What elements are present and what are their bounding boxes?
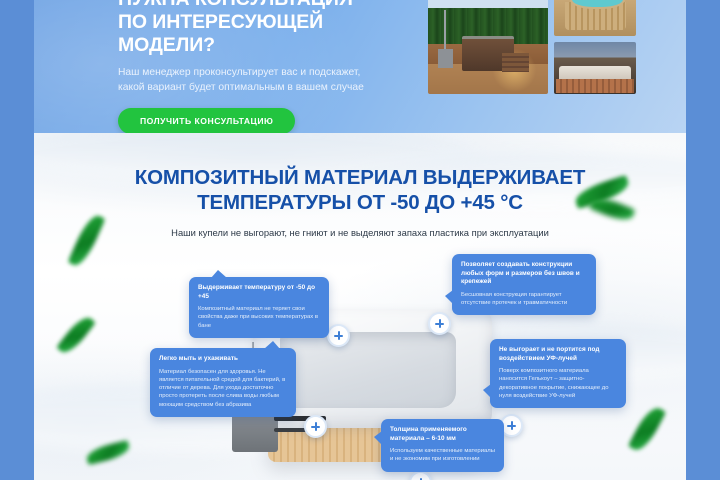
plus-icon	[435, 319, 444, 328]
feature-card-title: Позволяет создавать конструкции любых фо…	[461, 261, 587, 287]
hotspot-plus-button-1[interactable]	[327, 324, 350, 347]
feature-card-title: Выдерживает температуру от -50 до +45	[198, 284, 320, 301]
feature-card-text: Бесшовная конструкция гарантирует отсутс…	[461, 291, 587, 308]
get-consultation-button[interactable]: ПОЛУЧИТЬ КОНСУЛЬТАЦИЮ	[118, 108, 295, 133]
banner-title-line-1: НУЖНА КОНСУЛЬТАЦИЯ	[118, 0, 418, 11]
feature-card-text: Композитный материал не теряет свои свой…	[198, 305, 320, 330]
card-tail	[483, 384, 491, 398]
feature-card-text: Материал безопасен для здоровья. Не явля…	[159, 368, 287, 409]
plus-icon	[334, 331, 343, 340]
feature-card-title: Не выгорает и не портится под воздействи…	[499, 346, 617, 363]
photo-mountain-spa-tub	[554, 42, 636, 94]
section-title: КОМПОЗИТНЫЙ МАТЕРИАЛ ВЫДЕРЖИВАЕТ ТЕМПЕРА…	[34, 165, 686, 215]
section-title-line-1: КОМПОЗИТНЫЙ МАТЕРИАЛ ВЫДЕРЖИВАЕТ	[34, 165, 686, 190]
banner-photo-gallery	[428, 0, 678, 108]
feature-card-seamless-shapes[interactable]: Позволяет создавать конструкции любых фо…	[452, 254, 596, 315]
spa-wood-skirt-decor	[556, 79, 635, 93]
feature-card-text: Используем качественные материалы и не э…	[390, 447, 495, 464]
hotspot-plus-button-2[interactable]	[428, 312, 451, 335]
card-tail	[211, 270, 227, 278]
section-lede: Наши купели не выгорают, не гниют и не в…	[34, 226, 686, 239]
feature-card-easy-clean[interactable]: Легко мыть и ухаживать Материал безопасе…	[150, 348, 296, 417]
tub-basin	[280, 332, 456, 408]
section-heading-block: КОМПОЗИТНЫЙ МАТЕРИАЛ ВЫДЕРЖИВАЕТ ТЕМПЕРА…	[34, 165, 686, 239]
banner-title-line-2: ПО ИНТЕРЕСУЮЩЕЙ МОДЕЛИ?	[118, 11, 418, 57]
card-tail	[374, 431, 382, 445]
banner-subtitle-line-2: какой вариант будет оптимальным в вашем …	[118, 81, 418, 96]
feature-card-title: Толщина применяемого материала – 6-10 мм	[390, 426, 495, 443]
wood-stove-decor	[438, 49, 454, 68]
leaf-icon	[628, 404, 666, 455]
plus-icon	[507, 421, 516, 430]
feature-card-title: Легко мыть и ухаживать	[159, 355, 287, 364]
banner-subtitle-line-1: Наш менеджер проконсультирует вас и подс…	[118, 66, 418, 81]
feature-card-text: Поверх композитного материала наносится …	[499, 367, 617, 400]
feature-card-uv-resistance[interactable]: Не выгорает и не портится под воздействи…	[490, 339, 626, 408]
chimney-pipe-decor	[444, 10, 446, 53]
consultation-banner: НУЖНА КОНСУЛЬТАЦИЯ ПО ИНТЕРЕСУЮЩЕЙ МОДЕЛ…	[34, 0, 686, 133]
leaf-icon	[56, 313, 96, 358]
banner-copy: НУЖНА КОНСУЛЬТАЦИЯ ПО ИНТЕРЕСУЮЩЕЙ МОДЕЛ…	[118, 0, 418, 133]
plus-icon	[311, 422, 320, 431]
photo-outdoor-hot-tub	[428, 0, 548, 94]
card-tail	[264, 341, 280, 349]
section-title-line-2: ТЕМПЕРАТУРЫ ОТ -50 ДО +45 °C	[34, 190, 686, 215]
banner-subtitle: Наш менеджер проконсультирует вас и подс…	[118, 66, 418, 95]
tub-steps-decor	[502, 53, 528, 72]
card-tail	[445, 290, 453, 304]
feature-card-temperature[interactable]: Выдерживает температуру от -50 до +45 Ко…	[189, 277, 329, 338]
landing-page: НУЖНА КОНСУЛЬТАЦИЯ ПО ИНТЕРЕСУЮЩЕЙ МОДЕЛ…	[34, 0, 686, 480]
photo-round-wooden-tub	[554, 0, 636, 36]
hotspot-plus-button-4[interactable]	[304, 415, 327, 438]
banner-title: НУЖНА КОНСУЛЬТАЦИЯ ПО ИНТЕРЕСУЮЩЕЙ МОДЕЛ…	[118, 0, 418, 57]
feature-card-thickness[interactable]: Толщина применяемого материала – 6-10 мм…	[381, 419, 504, 472]
